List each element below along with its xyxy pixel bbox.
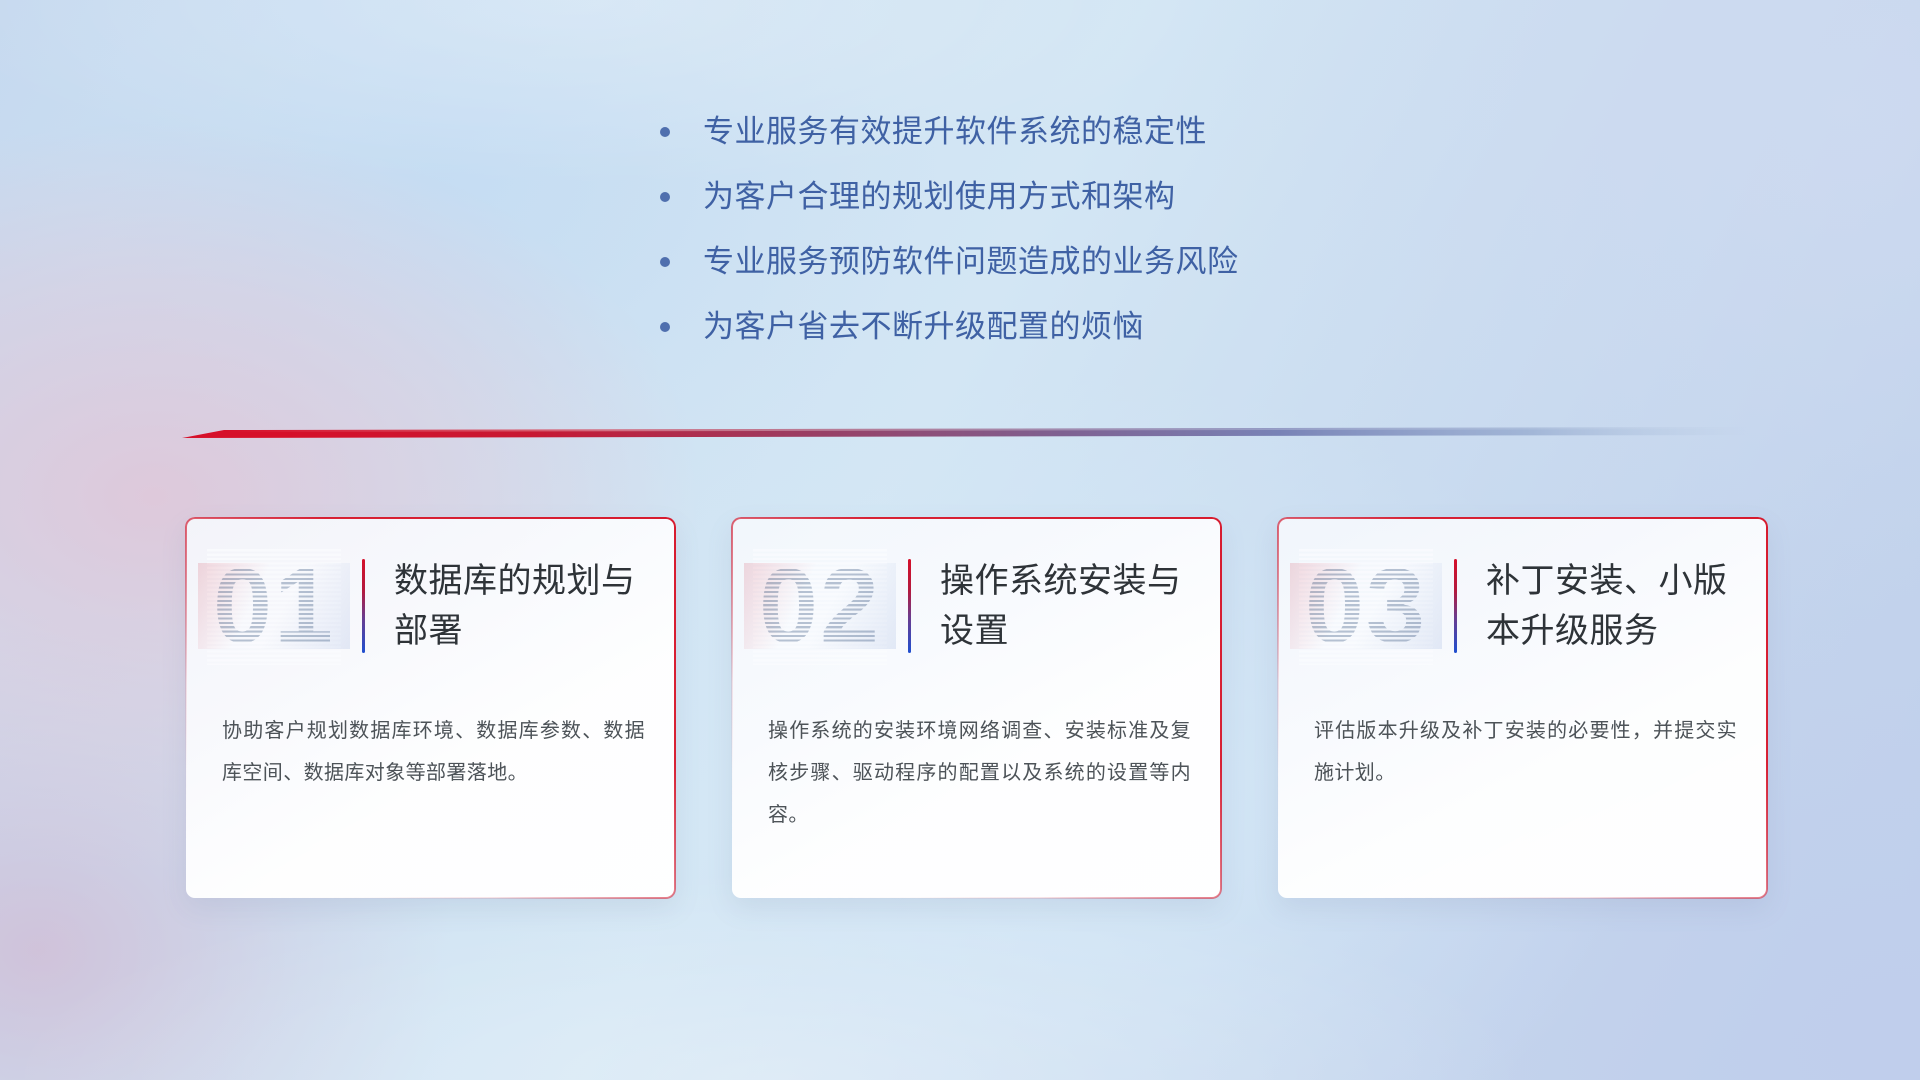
bullet-dot-icon <box>660 257 670 267</box>
card-header: 03 补丁安装、小版本升级服务 <box>1278 536 1767 676</box>
service-card[interactable]: 03 补丁安装、小版本升级服务 评估版本升级及补丁安装的必要性，并提交实施计划。 <box>1278 518 1767 898</box>
card-accent-rule <box>362 559 365 653</box>
card-description: 操作系统的安装环境网络调查、安装标准及复核步骤、驱动程序的配置以及系统的设置等内… <box>768 710 1191 836</box>
list-item: 为客户合理的规划使用方式和架构 <box>660 175 1480 240</box>
list-item: 专业服务预防软件问题造成的业务风险 <box>660 240 1480 305</box>
card-title: 操作系统安装与设置 <box>940 556 1190 656</box>
card-title: 补丁安装、小版本升级服务 <box>1486 556 1736 656</box>
bullet-item-label: 专业服务预防软件问题造成的业务风险 <box>703 240 1239 284</box>
card-number-badge: 01 <box>186 553 362 659</box>
bullet-dot-icon <box>660 127 670 137</box>
card-number-label: 01 <box>213 553 335 659</box>
list-item: 专业服务有效提升软件系统的稳定性 <box>660 110 1480 175</box>
benefits-bullet-list: 专业服务有效提升软件系统的稳定性 为客户合理的规划使用方式和架构 专业服务预防软… <box>660 110 1480 370</box>
bullet-item-label: 为客户省去不断升级配置的烦恼 <box>703 305 1144 349</box>
bullet-item-label: 专业服务有效提升软件系统的稳定性 <box>703 110 1207 154</box>
card-accent-rule <box>1454 559 1457 653</box>
service-card-list: 01 数据库的规划与部署 协助客户规划数据库环境、数据库参数、数据库空间、数据库… <box>186 518 1768 910</box>
card-number-label: 03 <box>1305 553 1427 659</box>
bullet-dot-icon <box>660 322 670 332</box>
card-title: 数据库的规划与部署 <box>394 556 644 656</box>
service-card[interactable]: 01 数据库的规划与部署 协助客户规划数据库环境、数据库参数、数据库空间、数据库… <box>186 518 675 898</box>
card-number-badge: 03 <box>1278 553 1454 659</box>
card-accent-rule <box>908 559 911 653</box>
list-item: 为客户省去不断升级配置的烦恼 <box>660 305 1480 370</box>
bullet-dot-icon <box>660 192 670 202</box>
card-number-badge: 02 <box>732 553 908 659</box>
card-description: 协助客户规划数据库环境、数据库参数、数据库空间、数据库对象等部署落地。 <box>222 710 645 794</box>
card-number-label: 02 <box>759 553 881 659</box>
card-header: 02 操作系统安装与设置 <box>732 536 1221 676</box>
bullet-item-label: 为客户合理的规划使用方式和架构 <box>703 175 1176 219</box>
section-divider <box>182 414 1752 448</box>
card-description: 评估版本升级及补丁安装的必要性，并提交实施计划。 <box>1314 710 1737 794</box>
service-card[interactable]: 02 操作系统安装与设置 操作系统的安装环境网络调查、安装标准及复核步骤、驱动程… <box>732 518 1221 898</box>
card-header: 01 数据库的规划与部署 <box>186 536 675 676</box>
